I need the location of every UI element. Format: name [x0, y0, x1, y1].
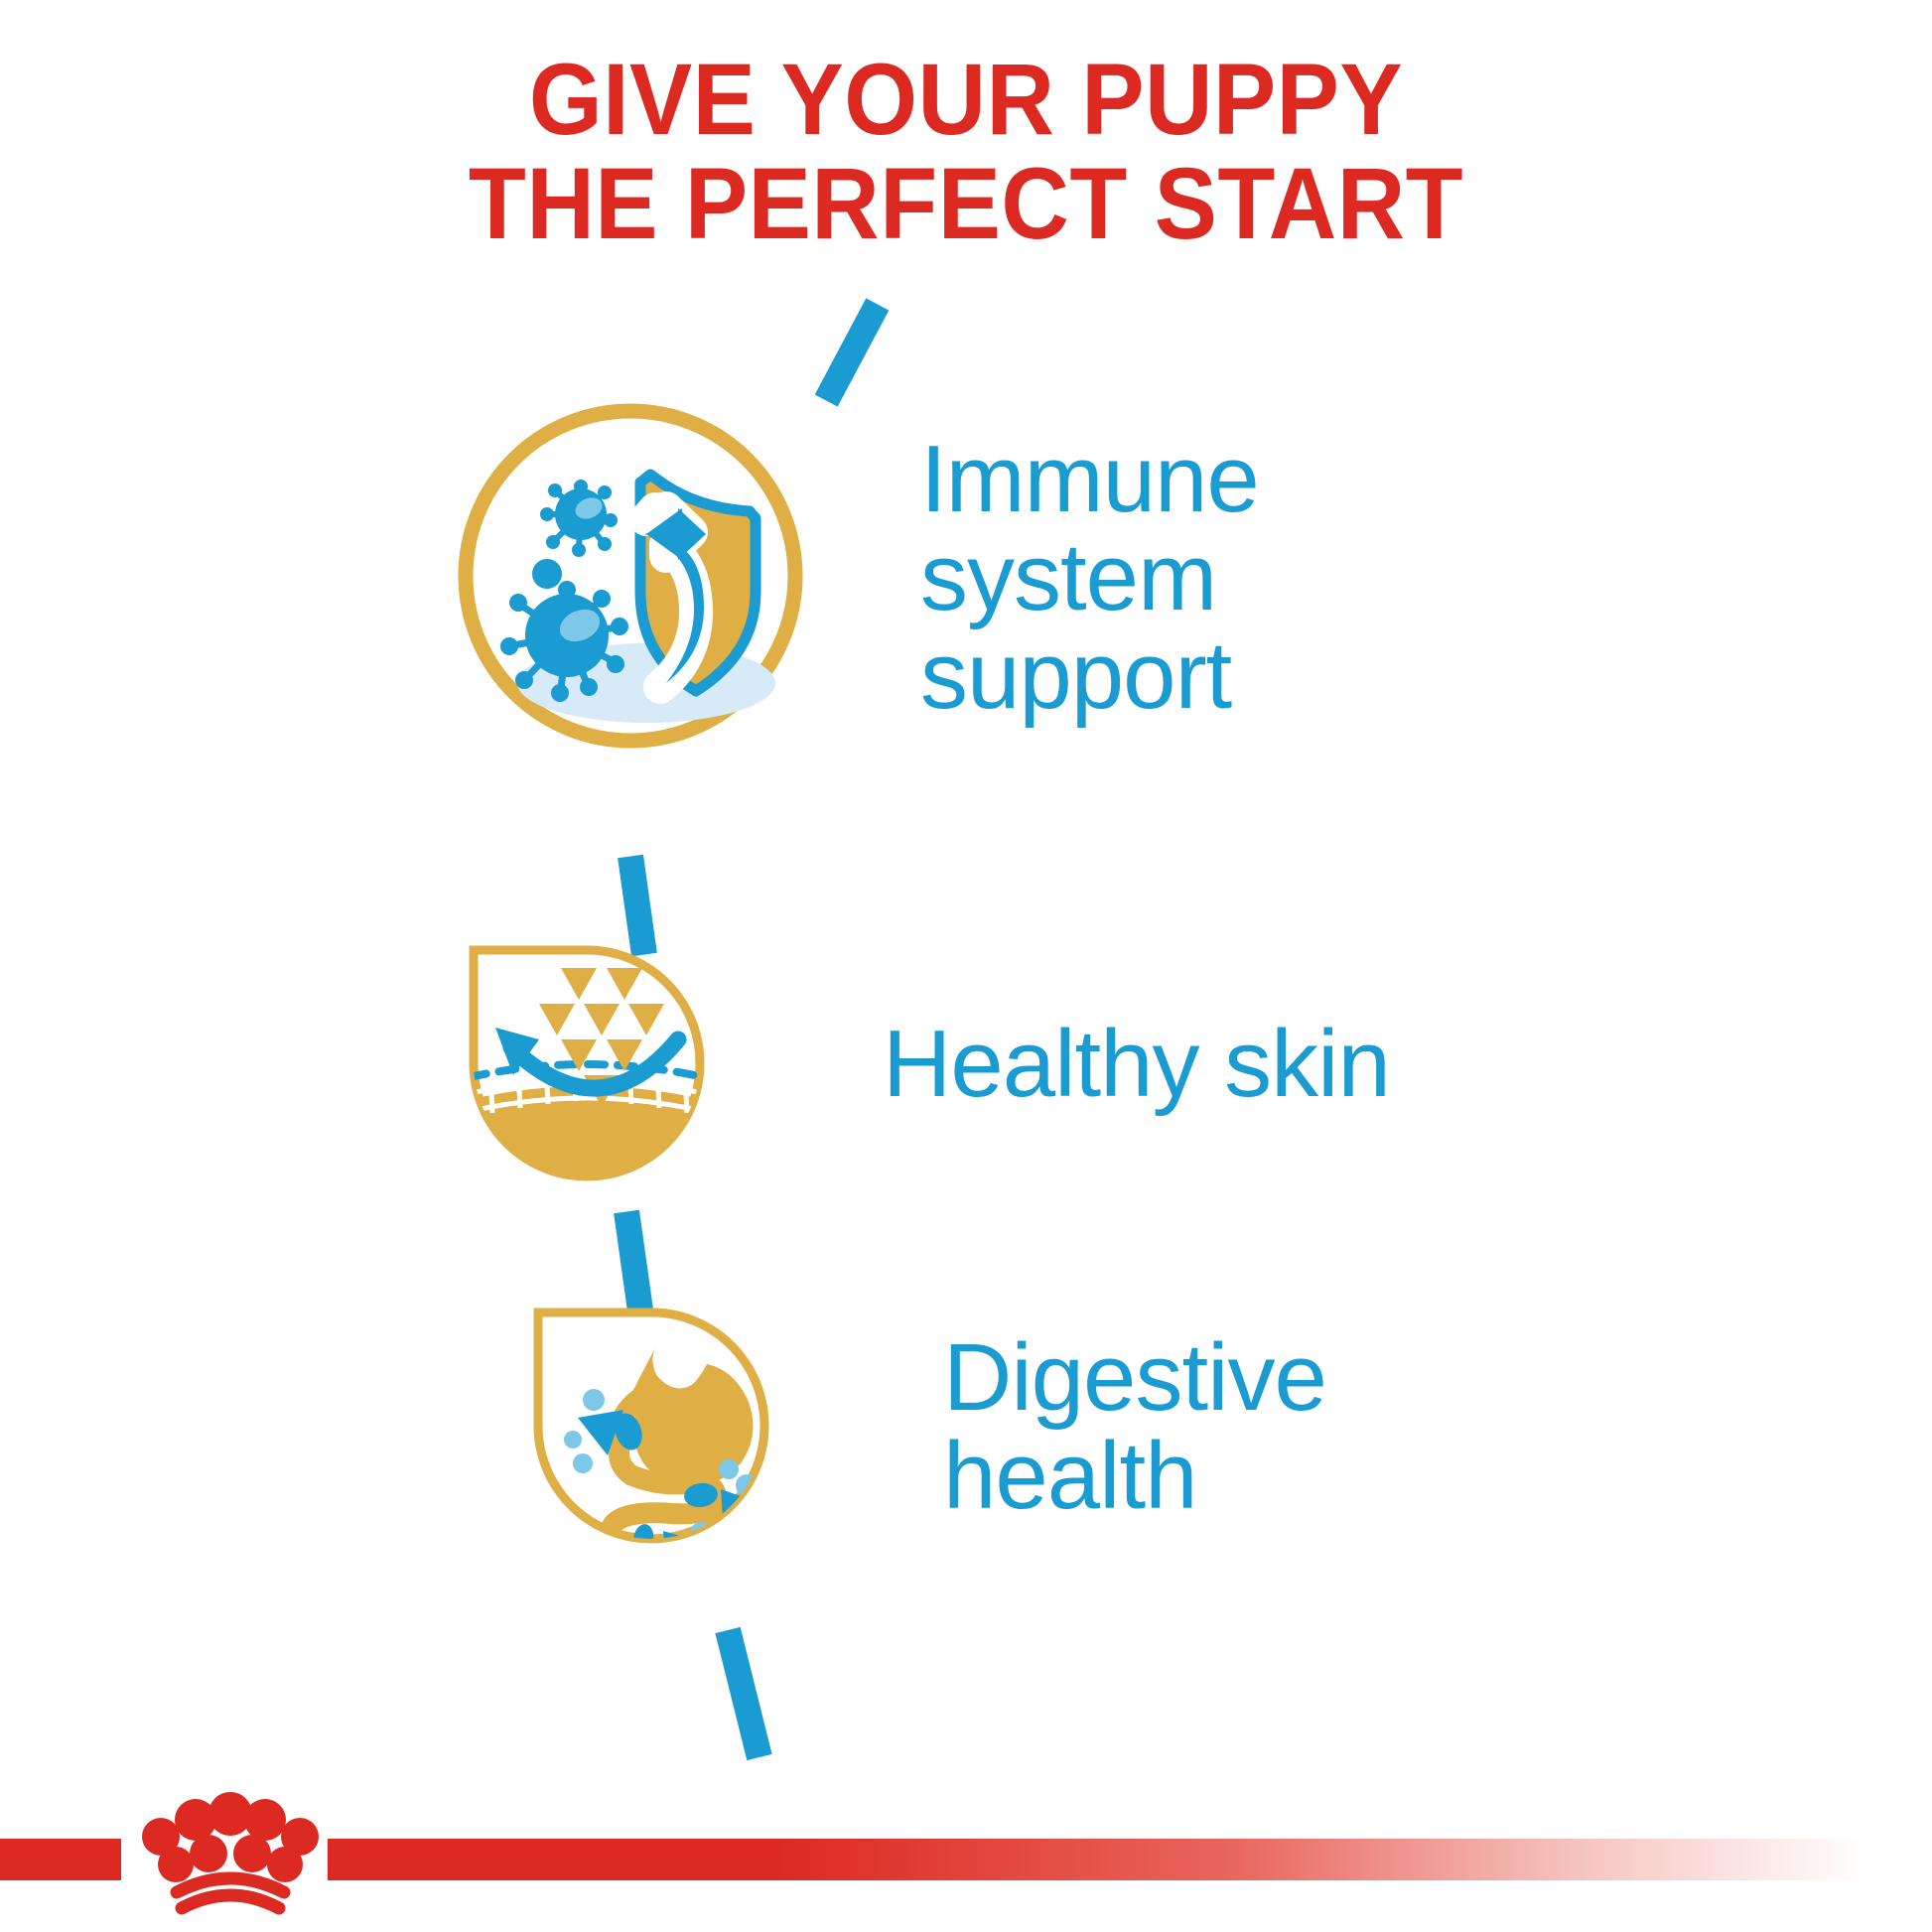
- connector-dash-top: [815, 298, 890, 406]
- marketing-infographic: GIVE YOUR PUPPY THE PERFECT START: [0, 0, 1932, 1932]
- page-title: GIVE YOUR PUPPY THE PERFECT START: [68, 48, 1864, 256]
- feature-row-digestive: Digestive health: [516, 1291, 1326, 1564]
- headline-line-2: THE PERFECT START: [68, 152, 1864, 256]
- feature-label-digestive: Digestive health: [943, 1329, 1326, 1526]
- royal-canin-crown-logo: [119, 1787, 338, 1932]
- immune-shield-icon: [452, 397, 809, 759]
- healthy-skin-icon: [452, 928, 720, 1201]
- feature-label-immune: Immune system support: [920, 431, 1259, 726]
- footer-bar-left: [0, 1839, 121, 1880]
- digestive-health-icon: [516, 1291, 784, 1564]
- headline-line-1: GIVE YOUR PUPPY: [68, 48, 1864, 152]
- footer-bar-right: [328, 1839, 1932, 1880]
- feature-label-skin: Healthy skin: [883, 1016, 1390, 1114]
- connector-dash-bottom: [715, 1627, 771, 1760]
- feature-row-immune: Immune system support: [452, 397, 1259, 759]
- brand-footer: [0, 1787, 1932, 1932]
- feature-row-skin: Healthy skin: [452, 928, 1390, 1201]
